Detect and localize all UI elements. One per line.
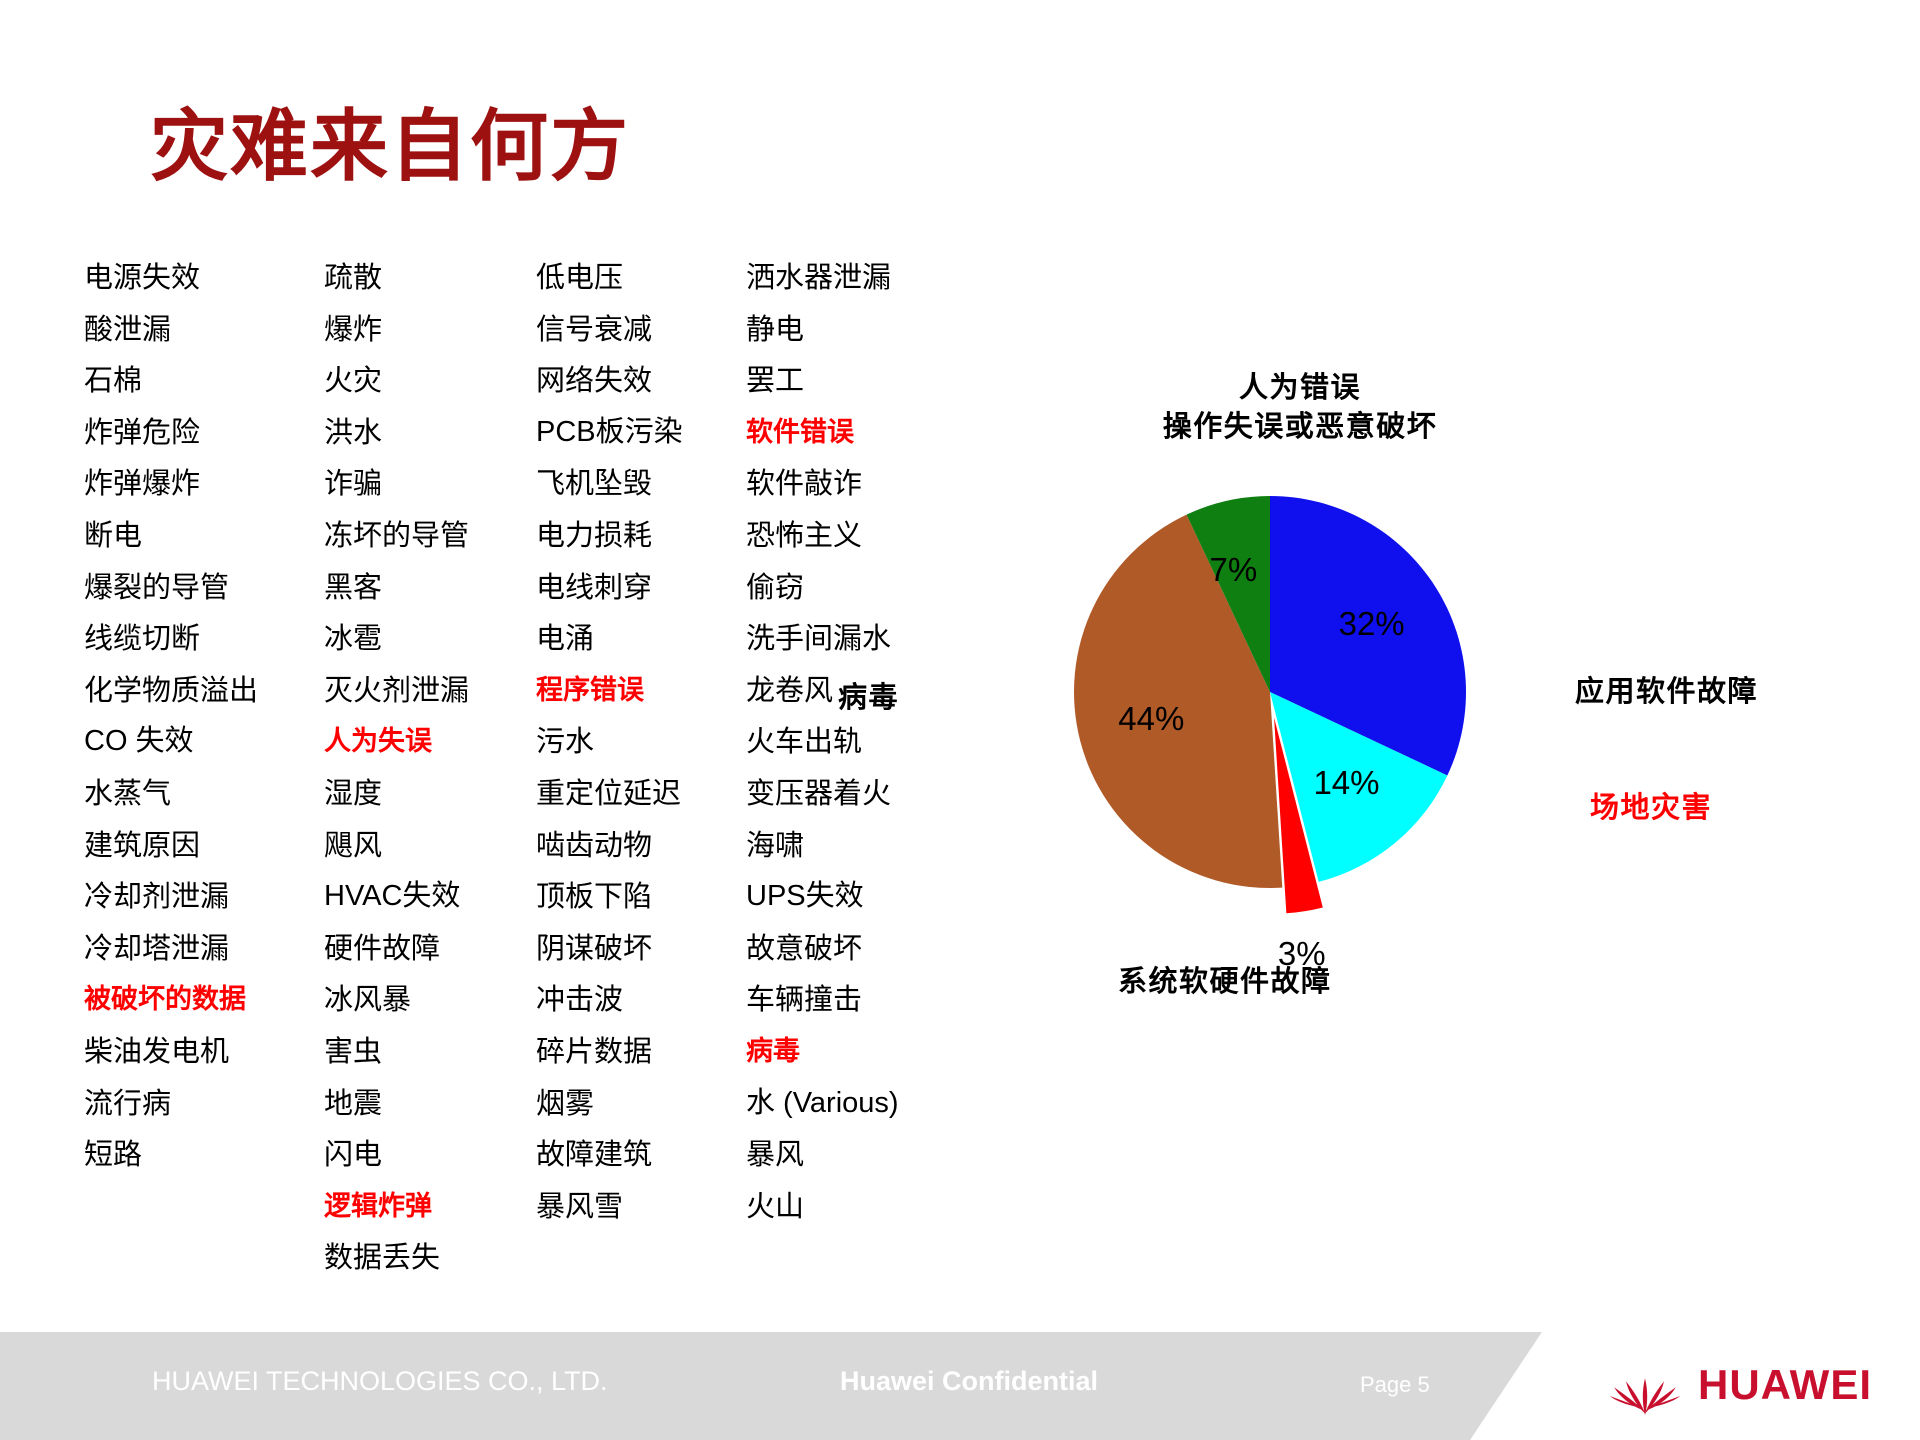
- word-item: 短路: [84, 1129, 324, 1181]
- word-item: 软件敲诈: [746, 458, 954, 510]
- word-item: 湿度: [324, 768, 536, 820]
- word-item: 偷窃: [746, 562, 954, 614]
- word-item: 暴风: [746, 1129, 954, 1181]
- word-item: UPS失效: [746, 871, 954, 923]
- word-item: 火车出轨: [746, 716, 954, 768]
- word-item: 冷却塔泄漏: [84, 923, 324, 975]
- word-item: 诈骗: [324, 458, 536, 510]
- word-item: 烟雾: [536, 1078, 746, 1130]
- word-item: 数据丢失: [324, 1232, 536, 1284]
- pie-label-virus: 病毒: [838, 674, 899, 716]
- footer-page-number: Page 5: [1360, 1372, 1430, 1398]
- pie-label-application-software-failure: 应用软件故障: [1575, 668, 1758, 710]
- word-column-3: 低电压信号衰减网络失效PCB板污染飞机坠毁电力损耗电线刺穿电涌程序错误污水重定位…: [536, 252, 746, 1232]
- word-item: 火山: [746, 1181, 954, 1233]
- word-item: 软件错误: [746, 407, 954, 459]
- word-item: 阴谋破坏: [536, 923, 746, 975]
- word-item: 爆裂的导管: [84, 562, 324, 614]
- word-item: 信号衰减: [536, 304, 746, 356]
- word-item: 冰风暴: [324, 974, 536, 1026]
- word-item: 炸弹危险: [84, 407, 324, 459]
- word-item: 故意破坏: [746, 923, 954, 975]
- word-item: 变压器着火: [746, 768, 954, 820]
- huawei-wordmark: HUAWEI: [1698, 1361, 1872, 1409]
- pie-value-application-software-failure: 14%: [1313, 764, 1379, 802]
- word-item: 飓风: [324, 820, 536, 872]
- word-item: 灭火剂泄漏: [324, 665, 536, 717]
- word-item: PCB板污染: [536, 407, 746, 459]
- word-item: 重定位延迟: [536, 768, 746, 820]
- word-item: 黑客: [324, 562, 536, 614]
- word-column-1: 电源失效酸泄漏石棉炸弹危险炸弹爆炸断电爆裂的导管线缆切断化学物质溢出CO 失效水…: [84, 252, 324, 1181]
- word-item: 疏散: [324, 252, 536, 304]
- word-item: 水蒸气: [84, 768, 324, 820]
- word-column-2: 疏散爆炸火灾洪水诈骗冻坏的导管黑客冰雹灭火剂泄漏人为失误湿度飓风HVAC失效硬件…: [324, 252, 536, 1284]
- pie-value-human-error: 32%: [1339, 605, 1405, 643]
- word-item: 爆炸: [324, 304, 536, 356]
- pie-label-site-disaster: 场地灾害: [1590, 784, 1712, 826]
- word-item: 断电: [84, 510, 324, 562]
- word-item: 网络失效: [536, 355, 746, 407]
- pie-graphic: 32% 14% 3% 44% 7%: [980, 420, 1840, 1020]
- word-item: 罢工: [746, 355, 954, 407]
- word-item: 炸弹爆炸: [84, 458, 324, 510]
- pie-label-system-failure: 系统软硬件故障: [1118, 958, 1332, 1000]
- word-item: 电力损耗: [536, 510, 746, 562]
- word-item: 硬件故障: [324, 923, 536, 975]
- word-item: 地震: [324, 1078, 536, 1130]
- word-column-4: 洒水器泄漏静电罢工软件错误软件敲诈恐怖主义偷窃洗手间漏水龙卷风火车出轨变压器着火…: [746, 252, 954, 1232]
- word-item: 暴风雪: [536, 1181, 746, 1233]
- word-item: 石棉: [84, 355, 324, 407]
- disaster-cause-pie-chart: 32% 14% 3% 44% 7% 人为错误 操作失误或恶意破坏 应用软件故障 …: [980, 420, 1840, 1160]
- footer-confidentiality-notice: Huawei Confidential: [840, 1366, 1098, 1397]
- word-item: 人为失误: [324, 716, 536, 768]
- pie-label-human-error-line2: 操作失误或恶意破坏: [1040, 407, 1560, 446]
- word-item: 故障建筑: [536, 1129, 746, 1181]
- word-item: 低电压: [536, 252, 746, 304]
- disaster-word-list: 电源失效酸泄漏石棉炸弹危险炸弹爆炸断电爆裂的导管线缆切断化学物质溢出CO 失效水…: [84, 252, 954, 1284]
- word-item: 恐怖主义: [746, 510, 954, 562]
- word-item: 电线刺穿: [536, 562, 746, 614]
- pie-value-virus: 7%: [1209, 551, 1257, 589]
- page-title: 灾难来自何方: [150, 108, 630, 186]
- word-item: HVAC失效: [324, 871, 536, 923]
- pie-label-human-error-line1: 人为错误: [1040, 368, 1560, 407]
- word-item: 水 (Various): [746, 1078, 954, 1130]
- word-item: 电涌: [536, 613, 746, 665]
- word-item: 电源失效: [84, 252, 324, 304]
- slide-footer: HUAWEI TECHNOLOGIES CO., LTD. Huawei Con…: [0, 1332, 1920, 1440]
- word-item: 酸泄漏: [84, 304, 324, 356]
- word-item: 飞机坠毁: [536, 458, 746, 510]
- word-item: 柴油发电机: [84, 1026, 324, 1078]
- word-item: 逻辑炸弹: [324, 1181, 536, 1233]
- word-item: 程序错误: [536, 665, 746, 717]
- word-item: 车辆撞击: [746, 974, 954, 1026]
- huawei-flower-icon: [1608, 1352, 1682, 1418]
- word-item: 洗手间漏水: [746, 613, 954, 665]
- word-item: 线缆切断: [84, 613, 324, 665]
- word-item: 害虫: [324, 1026, 536, 1078]
- word-item: 冰雹: [324, 613, 536, 665]
- pie-value-system-failure: 44%: [1118, 700, 1184, 738]
- word-item: 静电: [746, 304, 954, 356]
- word-item: 冻坏的导管: [324, 510, 536, 562]
- word-item: 建筑原因: [84, 820, 324, 872]
- pie-label-human-error: 人为错误 操作失误或恶意破坏: [1040, 368, 1560, 446]
- word-item: 碎片数据: [536, 1026, 746, 1078]
- word-item: 顶板下陷: [536, 871, 746, 923]
- pie-svg: [980, 420, 1840, 1020]
- word-item: 流行病: [84, 1078, 324, 1130]
- word-item: 洒水器泄漏: [746, 252, 954, 304]
- word-item: 病毒: [746, 1026, 954, 1078]
- word-item: 闪电: [324, 1129, 536, 1181]
- word-item: 洪水: [324, 407, 536, 459]
- word-item: 冲击波: [536, 974, 746, 1026]
- slide-canvas: 灾难来自何方 电源失效酸泄漏石棉炸弹危险炸弹爆炸断电爆裂的导管线缆切断化学物质溢…: [0, 0, 1920, 1440]
- word-item: 海啸: [746, 820, 954, 872]
- word-item: 被破坏的数据: [84, 974, 324, 1026]
- word-item: 冷却剂泄漏: [84, 871, 324, 923]
- word-item: 化学物质溢出: [84, 665, 324, 717]
- word-item: CO 失效: [84, 716, 324, 768]
- word-item: 污水: [536, 716, 746, 768]
- word-item: 啮齿动物: [536, 820, 746, 872]
- huawei-logo: HUAWEI: [1608, 1352, 1872, 1418]
- footer-company-name: HUAWEI TECHNOLOGIES CO., LTD.: [152, 1366, 608, 1397]
- word-item: 火灾: [324, 355, 536, 407]
